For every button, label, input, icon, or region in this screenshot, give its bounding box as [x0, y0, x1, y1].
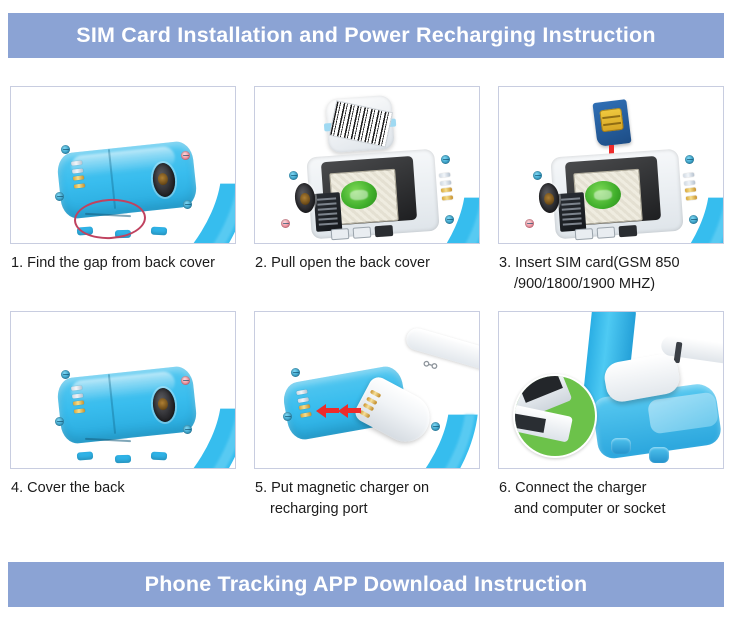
sim-insert-illustration — [499, 87, 723, 243]
step-1-image — [10, 86, 236, 244]
step-3-caption-line-2: /900/1800/1900 MHZ) — [499, 274, 724, 295]
screw-icon — [61, 145, 70, 154]
circuit-board — [558, 192, 587, 232]
band-nub — [151, 452, 167, 461]
port — [375, 225, 394, 237]
screw-icon — [685, 155, 694, 164]
steps-row-2: 4. Cover the back ⚯ — [10, 311, 724, 520]
instruction-steps-grid: 1. Find the gap from back cover — [10, 86, 724, 520]
reset-button-icon — [181, 151, 190, 160]
magnetic-charger-illustration: ⚯ — [255, 312, 479, 468]
screw-icon — [533, 171, 542, 180]
screw-icon — [289, 171, 298, 180]
port — [331, 228, 350, 240]
sim-chip-icon — [599, 108, 624, 133]
step-4-caption-line-1: 4. Cover the back — [11, 480, 125, 496]
screw-icon — [183, 425, 192, 434]
screw-icon — [441, 155, 450, 164]
port — [597, 227, 616, 239]
step-6-image — [498, 311, 724, 469]
removed-back-cover — [325, 95, 395, 153]
reset-button-icon — [525, 219, 534, 228]
watch-back-illustration — [11, 87, 235, 243]
port — [619, 225, 638, 237]
step-1-caption-line-1: 1. Find the gap from back cover — [11, 255, 215, 271]
red-left-arrow-icon — [325, 408, 339, 413]
step-1-caption: 1. Find the gap from back cover — [10, 253, 236, 274]
step-2-caption-line-1: 2. Pull open the back cover — [255, 255, 430, 271]
step-4: 4. Cover the back — [10, 311, 236, 520]
step-6-caption: 6. Connect the charger and computer or s… — [498, 478, 724, 520]
band-nub — [151, 227, 167, 236]
screw-icon — [431, 422, 440, 431]
screw-icon — [445, 215, 454, 224]
step-3-caption: 3. Insert SIM card(GSM 850 /900/1800/190… — [498, 253, 724, 295]
step-2-caption: 2. Pull open the back cover — [254, 253, 480, 274]
screw-icon — [183, 200, 192, 209]
band-nub — [77, 451, 94, 460]
step-4-caption: 4. Cover the back — [10, 478, 236, 499]
watch-side-button — [611, 438, 631, 454]
charger-connected-illustration — [499, 312, 723, 468]
reset-button-icon — [281, 219, 290, 228]
step-1: 1. Find the gap from back cover — [10, 86, 236, 295]
top-banner-title: SIM Card Installation and Power Rechargi… — [76, 23, 655, 48]
sim-card-icon — [592, 99, 631, 147]
port — [575, 228, 594, 240]
step-5-caption: 5. Put magnetic charger on recharging po… — [254, 478, 480, 520]
steps-row-1: 1. Find the gap from back cover — [10, 86, 724, 295]
screw-icon — [61, 370, 70, 379]
screw-icon — [689, 215, 698, 224]
port — [353, 227, 372, 239]
circuit-board — [314, 192, 343, 232]
step-6-caption-line-1: 6. Connect the charger — [499, 480, 647, 496]
bottom-banner: Phone Tracking APP Download Instruction — [8, 562, 724, 607]
step-2: 2. Pull open the back cover — [254, 86, 480, 295]
green-circle-inset-icon — [513, 374, 597, 458]
bottom-banner-title: Phone Tracking APP Download Instruction — [145, 572, 588, 597]
step-6-caption-line-2: and computer or socket — [499, 499, 724, 520]
watch-open-illustration — [255, 87, 479, 243]
step-6: 6. Connect the charger and computer or s… — [498, 311, 724, 520]
screw-icon — [55, 417, 64, 426]
red-left-arrow-icon — [347, 408, 361, 413]
step-3-caption-line-1: 3. Insert SIM card(GSM 850 — [499, 255, 680, 271]
band-nub — [115, 455, 131, 464]
barcode-sticker-icon — [329, 100, 393, 147]
step-5-caption-line-1: 5. Put magnetic charger on — [255, 480, 429, 496]
step-5: ⚯ 5. Put magnetic charger on recharging … — [254, 311, 480, 520]
step-3: 3. Insert SIM card(GSM 850 /900/1800/190… — [498, 86, 724, 295]
step-5-caption-line-2: recharging port — [255, 499, 480, 520]
top-banner: SIM Card Installation and Power Rechargi… — [8, 13, 724, 58]
step-2-image — [254, 86, 480, 244]
reset-button-icon — [181, 376, 190, 385]
screw-icon — [283, 412, 292, 421]
step-4-image — [10, 311, 236, 469]
screw-icon — [55, 192, 64, 201]
screw-icon — [291, 368, 300, 377]
step-3-image — [498, 86, 724, 244]
watch-side-button — [649, 447, 669, 463]
step-5-image: ⚯ — [254, 311, 480, 469]
watch-covered-illustration — [11, 312, 235, 468]
